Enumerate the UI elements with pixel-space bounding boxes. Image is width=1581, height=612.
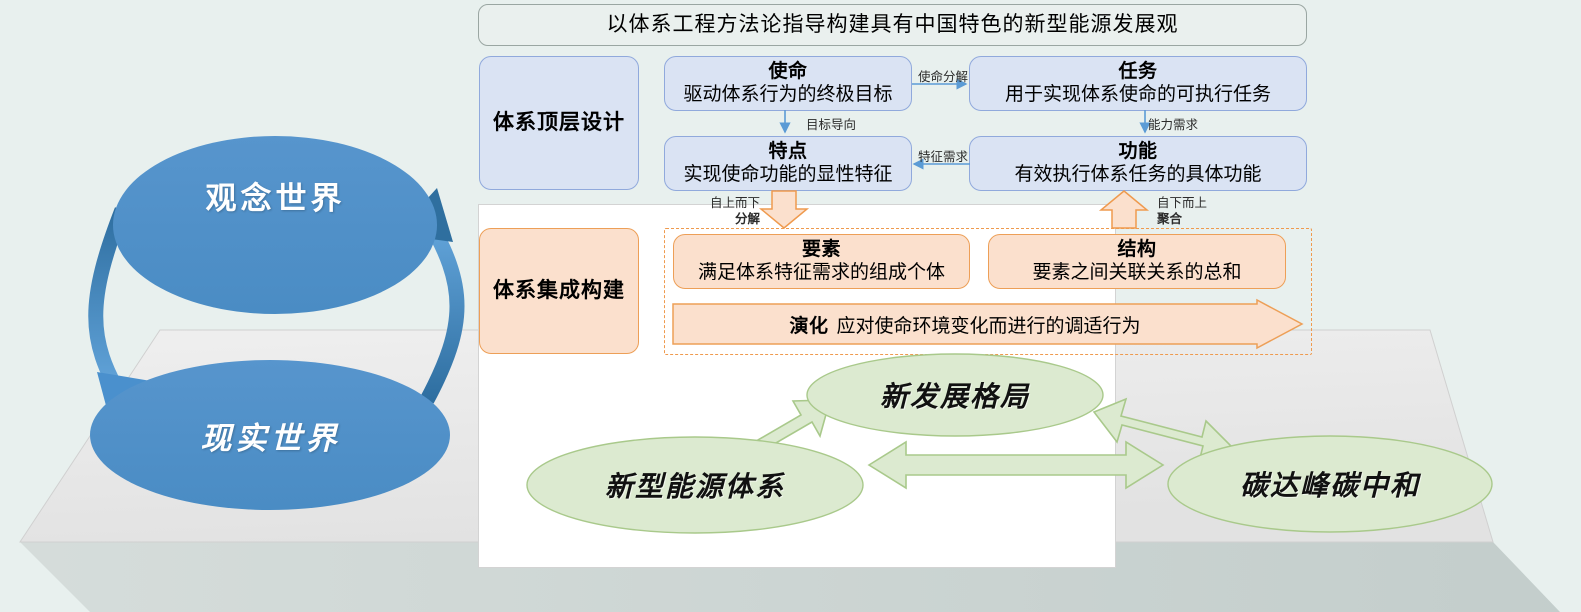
connector-label-mission-decompose: 使命分解 bbox=[918, 66, 968, 85]
layer-box-integration[interactable]: 体系集成构建 bbox=[479, 228, 639, 354]
layer-label-integration: 体系集成构建 bbox=[493, 279, 625, 304]
box-element-title: 要素 bbox=[802, 239, 841, 261]
box-mission[interactable]: 使命 驱动体系行为的终极目标 bbox=[664, 56, 912, 111]
connector-mission-to-characteristic bbox=[778, 108, 808, 140]
connector-label-characteristic-need: 特征需求 bbox=[918, 146, 968, 165]
box-element-desc: 满足体系特征需求的组成个体 bbox=[698, 262, 945, 284]
box-element[interactable]: 要素 满足体系特征需求的组成个体 bbox=[673, 234, 970, 289]
box-evolution-title: 演化 bbox=[789, 311, 828, 338]
layer-label-top-design: 体系顶层设计 bbox=[493, 111, 625, 136]
box-mission-title: 使命 bbox=[768, 61, 807, 83]
evolution-label-wrap: 演化 应对使命环境变化而进行的调适行为 bbox=[673, 300, 1257, 348]
layer-box-top-design[interactable]: 体系顶层设计 bbox=[479, 56, 639, 190]
arrow-up-line1: 自下而上 bbox=[1157, 196, 1207, 210]
goal-triangle-graphic bbox=[520, 352, 1480, 542]
arrow-down-decompose-icon bbox=[760, 191, 812, 229]
connector-label-capability-need: 能力需求 bbox=[1148, 114, 1198, 133]
box-structure[interactable]: 结构 要素之间关联关系的总和 bbox=[988, 234, 1286, 289]
box-mission-desc: 驱动体系行为的终极目标 bbox=[683, 84, 892, 106]
box-characteristic-title: 特点 bbox=[768, 141, 807, 163]
arrow-up-line2: 聚合 bbox=[1157, 212, 1219, 228]
box-characteristic-desc: 实现使命功能的显性特征 bbox=[683, 164, 892, 186]
diagram-canvas: 以体系工程方法论指导构建具有中国特色的新型能源发展观 体系顶层设计 使命 驱动体… bbox=[0, 0, 1581, 612]
box-characteristic[interactable]: 特点 实现使命功能的显性特征 bbox=[664, 136, 912, 191]
box-structure-desc: 要素之间关联关系的总和 bbox=[1032, 262, 1241, 284]
arrow-up-label: 自下而上 聚合 bbox=[1157, 196, 1219, 227]
box-evolution-desc: 应对使命环境变化而进行的调适行为 bbox=[837, 311, 1141, 338]
connector-label-goal-orientation: 目标导向 bbox=[806, 114, 856, 133]
title-banner-text: 以体系工程方法论指导构建具有中国特色的新型能源发展观 bbox=[607, 13, 1179, 38]
arrow-down-line1: 自上而下 bbox=[710, 196, 760, 210]
world-cycle-graphic bbox=[75, 110, 475, 510]
arrow-down-label: 自上而下 分解 bbox=[700, 196, 760, 227]
title-banner: 以体系工程方法论指导构建具有中国特色的新型能源发展观 bbox=[478, 4, 1307, 46]
box-structure-title: 结构 bbox=[1117, 239, 1156, 261]
arrow-up-aggregate-icon bbox=[1100, 191, 1152, 229]
arrow-down-line2: 分解 bbox=[700, 212, 760, 228]
